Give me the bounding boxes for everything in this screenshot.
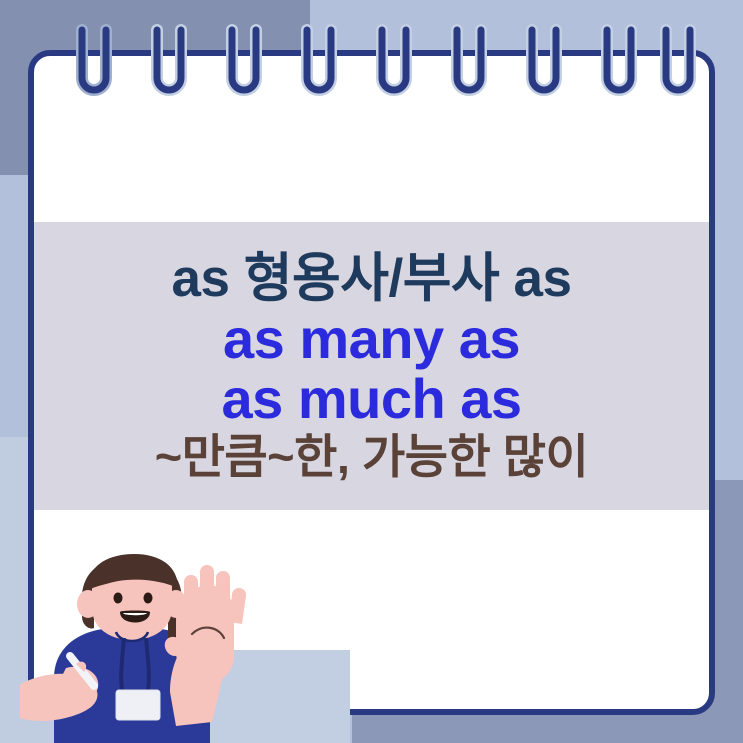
phrase-line-1: as 형용사/부사 as (172, 252, 572, 305)
character-eye-left (114, 593, 123, 604)
phrase-line-2: as many as (223, 311, 520, 367)
phrase-line-3: as much as (221, 371, 521, 427)
text-band: as 형용사/부사 as as many as as much as ~만큼~한… (34, 222, 709, 510)
translation-line: ~만큼~한, 가능한 많이 (155, 433, 589, 480)
character-eye-right (144, 593, 153, 604)
flashcard-canvas: as 형용사/부사 as as many as as much as ~만큼~한… (0, 0, 743, 743)
character-head (77, 554, 187, 644)
waving-teacher-character (20, 552, 280, 743)
